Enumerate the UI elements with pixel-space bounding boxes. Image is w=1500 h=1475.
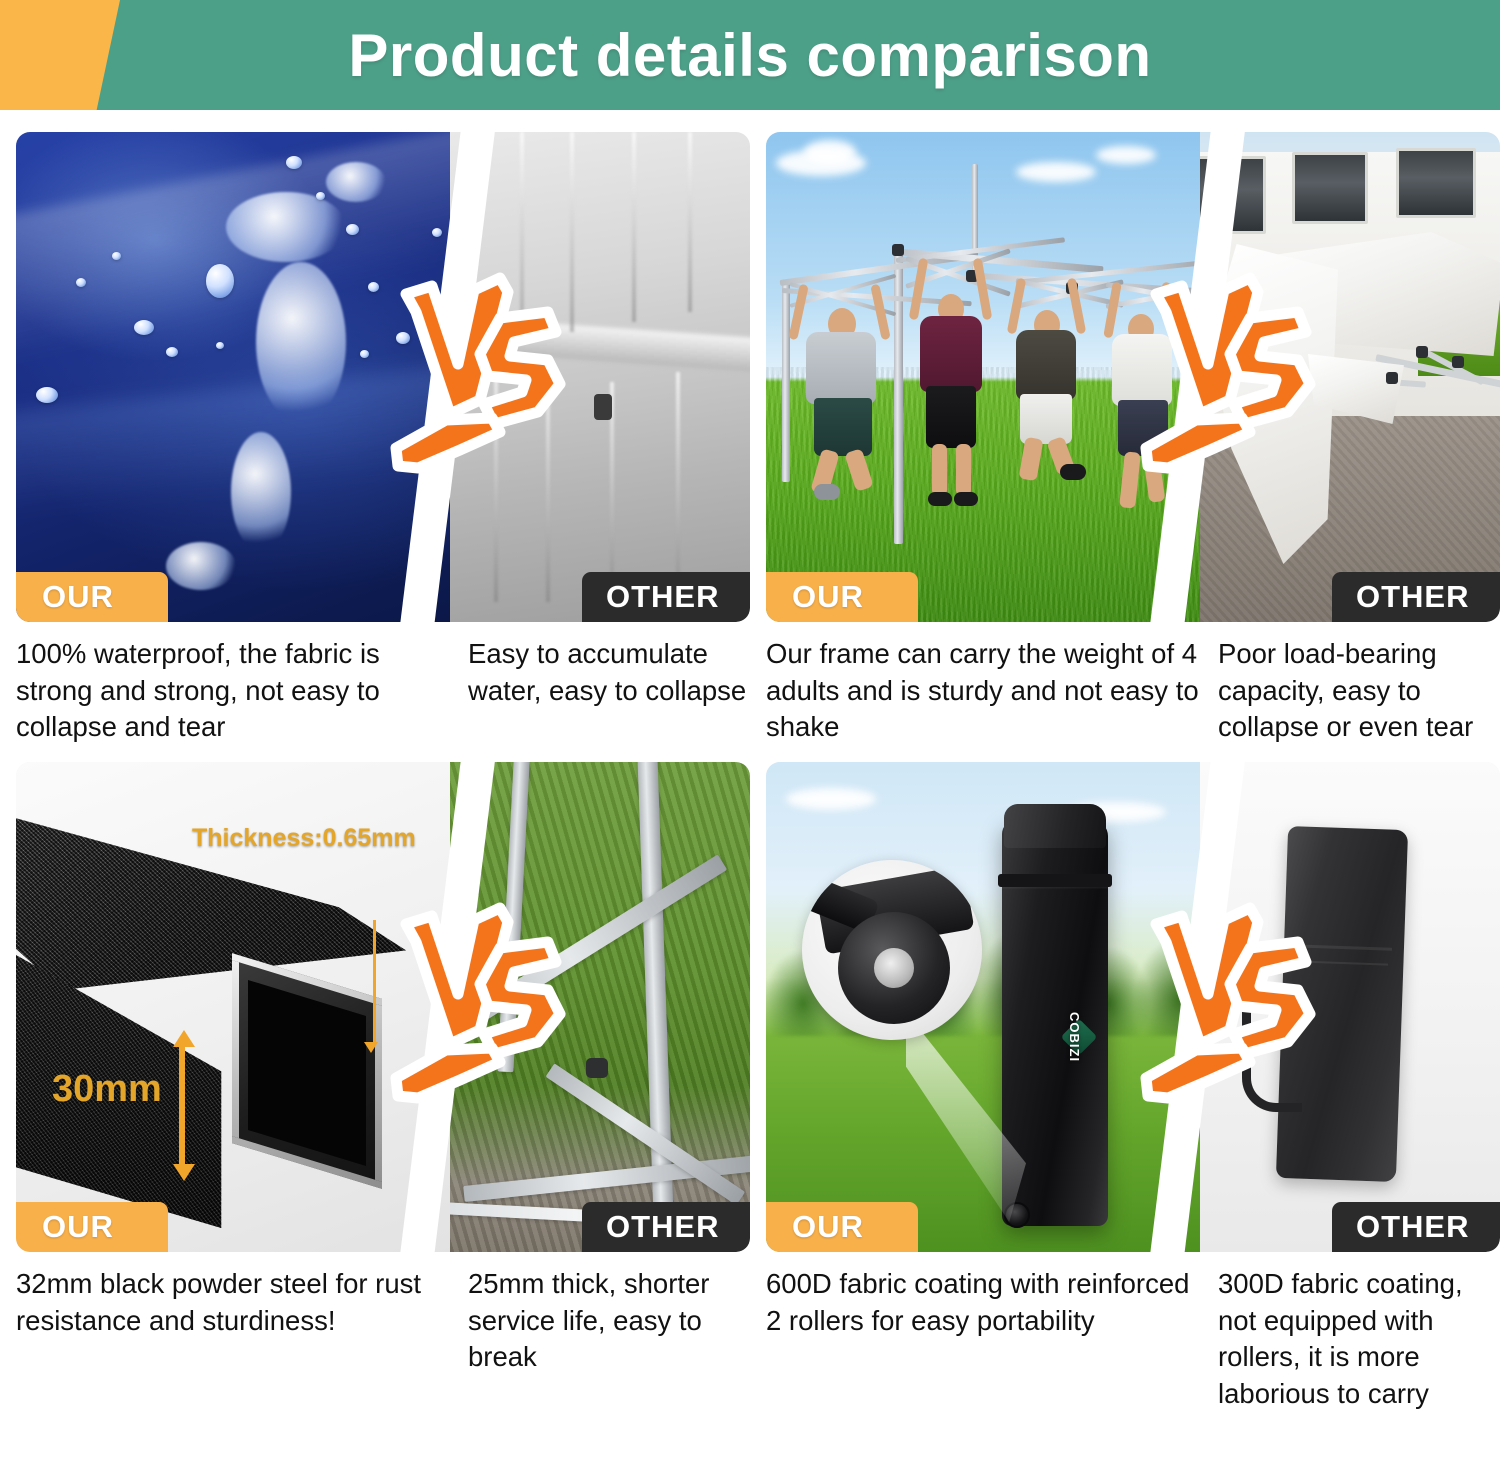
width-annotation: 30mm [52,1068,162,1111]
caption-our-waterproof: 100% waterproof, the fabric is strong an… [16,636,468,746]
comparison-cell-steel-frame: Thickness:0.65mm 30mm OUR [8,762,758,1462]
caption-group-carry-bag: 600D fabric coating with reinforced 2 ro… [766,1266,1500,1412]
carry-bag-top-cap [1004,804,1106,848]
image-pair-carry-bag: COBIZI OUR [766,762,1500,1252]
comparison-grid: OUR OTHER [0,110,1500,1475]
brand-logo-text: COBIZI [1067,1012,1082,1062]
caption-our-steel-frame: 32mm black powder steel for rust resista… [16,1266,468,1376]
page-title: Product details comparison [0,0,1500,110]
other-image-load-bearing: OTHER [1200,132,1500,622]
wheel-zoom-callout [802,860,982,1040]
caption-other-waterproof: Easy to accumulate water, easy to collap… [468,636,750,746]
badge-other-steel-frame: OTHER [582,1202,750,1252]
thickness-annotation: Thickness:0.65mm [192,824,416,853]
image-pair-steel-frame: Thickness:0.65mm 30mm OUR [16,762,750,1252]
comparison-row-1: OUR OTHER [8,132,1492,762]
comparison-cell-waterproof: OUR OTHER [8,132,758,762]
caption-group-waterproof: 100% waterproof, the fabric is strong an… [16,636,750,746]
caption-our-carry-bag: 600D fabric coating with reinforced 2 ro… [766,1266,1218,1412]
thin-silver-frame-photo [450,762,750,1252]
badge-our-load-bearing: OUR [766,572,918,622]
badge-other-load-bearing: OTHER [1332,572,1500,622]
plain-bag-shoulder-strap [1242,952,1302,1112]
badge-our-waterproof: OUR [16,572,168,622]
badge-our-carry-bag: OUR [766,1202,918,1252]
plain-carry-bag-photo [1200,762,1500,1252]
other-image-thin-frame: OTHER [450,762,750,1252]
carry-bag-strap [998,874,1112,887]
collapsed-white-canopy-photo [1200,132,1500,622]
comparison-cell-carry-bag: COBIZI OUR [758,762,1500,1462]
comparison-row-2: Thickness:0.65mm 30mm OUR [8,762,1492,1462]
caption-other-load-bearing: Poor load-bearing capacity, easy to coll… [1218,636,1500,746]
caption-other-carry-bag: 300D fabric coating, not equipped with r… [1218,1266,1500,1412]
other-image-plain-bag: OTHER [1200,762,1500,1252]
thickness-leader-line [373,920,376,1044]
page-header: Product details comparison [0,0,1500,110]
grey-collapsed-tarp-photo [450,132,750,622]
other-image-waterproof: OTHER [450,132,750,622]
comparison-cell-load-bearing: OUR [758,132,1500,762]
badge-other-carry-bag: OTHER [1332,1202,1500,1252]
badge-our-steel-frame: OUR [16,1202,168,1252]
width-dimension-line [179,1044,185,1166]
badge-other-waterproof: OTHER [582,572,750,622]
width-arrow-down [173,1164,195,1181]
caption-group-steel-frame: 32mm black powder steel for rust resista… [16,1266,750,1376]
caption-our-load-bearing: Our frame can carry the weight of 4 adul… [766,636,1218,746]
caption-other-steel-frame: 25mm thick, shorter service life, easy t… [468,1266,750,1376]
thickness-arrow [364,1042,378,1053]
image-pair-load-bearing: OUR [766,132,1500,622]
caption-group-load-bearing: Our frame can carry the weight of 4 adul… [766,636,1500,746]
image-pair-waterproof: OUR OTHER [16,132,750,622]
